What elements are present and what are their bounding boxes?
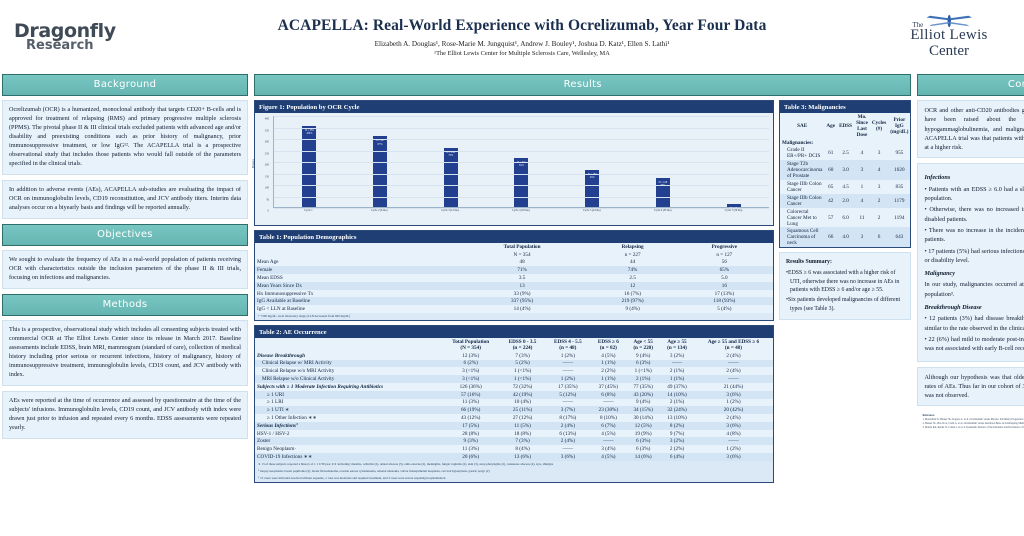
table-cell: 37 (45%)	[590, 383, 626, 391]
chart-y-tick: 250	[265, 152, 269, 155]
table-3-column-header: SAE	[780, 113, 824, 139]
table-1: Total PopulationRelapsingProgressive N =…	[255, 243, 773, 313]
section-header-conclusions: Conclusions	[917, 74, 1024, 96]
table-row: Colorectal Cancer Met to Lung576.0112119…	[780, 208, 910, 228]
references-block: References 1. Montalban X, Hauser SL, Ka…	[917, 411, 1024, 433]
chart-y-tick: 150	[265, 175, 269, 178]
table-cell: 65%	[676, 266, 773, 274]
table-cell: 21 (44%)	[694, 383, 773, 391]
figure-1-chart: Patients 050100150200250300350400 N = 35…	[255, 113, 773, 225]
table-row-label: Benign Neoplasm·	[255, 445, 441, 453]
table-cell: 1 (2%)	[694, 399, 773, 407]
table-cell: ——	[694, 437, 773, 445]
table-row: ≥ 1 URI57 (16%)42 (19%)5 (12%)6 (8%)43 (…	[255, 391, 773, 399]
table-cell: 13 (10%)	[660, 414, 694, 422]
table-cell: 7 (3%)	[500, 352, 545, 360]
table-1-column-header: Relapsing	[590, 243, 676, 251]
table-cell: 3 (7%)	[545, 406, 590, 414]
table-cell: 1 (1%)	[590, 375, 626, 383]
chart-y-tick: 50	[266, 198, 269, 201]
table-cell: 9 (4%)	[590, 305, 676, 313]
table-row-label: Clinical Relapse w/ MRI Activity	[255, 360, 441, 368]
table-row-label: Clinical Relapse w/o MRI Activity	[255, 367, 441, 375]
table-cell: 3	[870, 180, 888, 194]
table-cell: 5 (12%)	[545, 391, 590, 399]
figure-1-title: Figure 1: Population by OCR Cycle	[255, 101, 773, 113]
table-cell: 30 (14%)	[626, 414, 660, 422]
table-cell: 643	[888, 227, 910, 247]
table-cell: 4	[870, 160, 888, 180]
table-cell: 23 (30%)	[590, 406, 626, 414]
table-cell: 14 (10%)	[660, 391, 694, 399]
table-row: Stage IIIb Colon Cancer654.513835	[780, 180, 910, 194]
table-row: Zoster9 (3%)7 (3%)2 (4%)——6 (3%)3 (2%)——	[255, 437, 773, 445]
table-cell: Mean Years Since Dx	[255, 282, 455, 290]
table-row: Squamous Cell Carcinoma of neck664.03664…	[780, 227, 910, 247]
elliot-lewis-center-logo: The Elliot Lewis Center	[874, 14, 1024, 60]
table-cell: 6 (7%)	[590, 422, 626, 430]
reference-3: 3. Marrie RA, Reider N, Cohen J, et al. …	[922, 426, 1024, 430]
table-cell: 66	[824, 227, 837, 247]
table-row: Hx Immunosuppressive Tx33 (9%)16 (7%)17 …	[255, 290, 773, 298]
table-row-label: ≥ 1 LRI	[255, 399, 441, 407]
table-cell: 6 (8%)	[590, 391, 626, 399]
table-cell: 126 (36%)	[441, 383, 499, 391]
dragonfly-icon	[923, 14, 976, 28]
table-cell: 835	[888, 180, 910, 194]
table-3-column-header: Prior IgG(mg/dL)	[888, 113, 910, 139]
section-header-results: Results	[254, 74, 911, 96]
chart-x-tick: Cycle 5 (24 mo)	[561, 209, 623, 212]
chart-gridline	[274, 208, 769, 209]
methods-panel: This is a prospective, observational stu…	[2, 320, 248, 386]
table-cell: 2 (2%)	[590, 367, 626, 375]
table-cell: 57	[824, 208, 837, 228]
chart-x-tick: Cycle 3 (12 mo)	[419, 209, 481, 212]
table-cell: 66 (19%)	[441, 406, 499, 414]
conclusions-panel-intro: OCR and other anti-CD20 antibodies gener…	[917, 100, 1024, 158]
chart-gridline	[274, 128, 769, 129]
table-cell: 11 (3%)	[441, 399, 499, 407]
objectives-paragraph-1: We sought to evaluate the frequency of A…	[9, 256, 241, 283]
table-2-footnote-1: ∗ 13 of these subjects reported a histor…	[255, 461, 773, 468]
table-3-group-label: Malignancies:	[780, 139, 910, 147]
table-3-header: SAEAgeEDSSMo. SinceLast DoseCycles(#)Pri…	[780, 113, 910, 139]
table-2-title: Table 2: AE Occurrence	[255, 326, 773, 338]
table-cell: 3.5	[455, 274, 590, 282]
table-cell: 2.5	[837, 147, 854, 161]
table-cell: 3 (6%)	[694, 422, 773, 430]
table-3-column-header: Mo. SinceLast Dose	[854, 113, 870, 139]
table-cell: 4 (5%)	[590, 453, 626, 461]
table-cell: 20 (42%)	[694, 406, 773, 414]
table-cell: 72 (32%)	[500, 383, 545, 391]
table-cell: Squamous Cell Carcinoma of neck	[780, 227, 824, 247]
poster-header: Dragonfly Research ACAPELLA: Real-World …	[0, 0, 1024, 74]
chart-bar-label: N = 25873%	[444, 151, 458, 157]
chart-gridline	[274, 174, 769, 175]
conclusions-breakthrough-bullet-2: • 22 (6%) had mild to moderate post-infu…	[924, 335, 1024, 354]
table-row: COVID-19 Infections ∗∗20 (6%)13 (6%)3 (6…	[255, 453, 773, 461]
table-cell: 14 (4%)	[455, 305, 590, 313]
table-2-column-header: Age < 55(n = 220)	[626, 338, 660, 352]
table-cell: 3 (6%)	[694, 391, 773, 399]
table-cell: 61	[824, 147, 837, 161]
table-cell: 18 (8%)	[500, 430, 545, 438]
table-cell: 3	[870, 147, 888, 161]
table-cell: 1	[854, 180, 870, 194]
conclusions-panel-final: Although our hypothesis was that older a…	[917, 367, 1024, 407]
table-cell: 3 (6%)	[694, 453, 773, 461]
table-cell: 1 (2%)	[545, 375, 590, 383]
table-3-column-header: Age	[824, 113, 837, 139]
table-cell: 219 (97%)	[590, 297, 676, 305]
section-header-methods: Methods	[2, 294, 248, 316]
table-cell: 44	[590, 259, 676, 267]
results-right: Table 3: Malignancies SAEAgeEDSSMo. Sinc…	[779, 100, 911, 320]
table-cell: 8 (4%)	[500, 445, 545, 453]
chart-y-axis-label: Patients	[252, 159, 255, 168]
table-cell: 43 (20%)	[626, 391, 660, 399]
conclusions-intro: OCR and other anti-CD20 antibodies gener…	[924, 106, 1024, 152]
conclusions-panel-body: Infections • Patients with an EDSS ≥ 6.0…	[917, 163, 1024, 361]
table-row-label: Subjects with ≥ 1 Moderate Infection Req…	[255, 383, 441, 391]
chart-y-tick: 350	[265, 129, 269, 132]
table-cell: 32 (24%)	[660, 406, 694, 414]
results-left: Figure 1: Population by OCR Cycle Patien…	[254, 100, 774, 487]
conclusions-subheading-malignancy: Malignancy	[924, 269, 1024, 278]
table-2-column-header: EDSS 0 - 3.5(n = 224)	[500, 338, 545, 352]
table-row: ≥ 1 LRI11 (3%)10 (4%)————9 (4%)2 (1%)1 (…	[255, 399, 773, 407]
title-block: ACAPELLA: Real-World Experience with Ocr…	[170, 17, 874, 57]
table-cell: Stage IIIb Colon Cancer	[780, 180, 824, 194]
table-cell: 10 (4%)	[500, 399, 545, 407]
table-cell: 6	[870, 227, 888, 247]
table-3-column-header: EDSS	[837, 113, 854, 139]
table-cell: 118 (93%)	[676, 297, 773, 305]
table-row-label: HSV-1 / HSV-2	[255, 430, 441, 438]
chart-gridline	[274, 151, 769, 152]
chart-bar: N = 16045%	[585, 170, 599, 207]
table-row: IgG < LLN at Baseline14 (4%)9 (4%)5 (4%)	[255, 305, 773, 313]
table-row: Clinical Relapse w/ MRI Activity6 (2%)5 …	[255, 360, 773, 368]
table-row: Mean Years Since Dx131216	[255, 282, 773, 290]
table-cell: 3.0	[837, 160, 854, 180]
conclusions-infections-bullet-2: • Otherwise, there was no increased inci…	[924, 205, 1024, 224]
table-cell: 1 (<1%)	[500, 375, 545, 383]
background-paragraph-1: Ocrelizumab (OCR) is a humanized, monocl…	[9, 106, 241, 169]
table-cell: Mean EDSS	[255, 274, 455, 282]
conclusions-subheading-infections: Infections	[924, 173, 1024, 182]
table-1-column-header	[255, 243, 455, 251]
table-3-group-label-row: Malignancies:	[780, 139, 910, 147]
table-cell: 28 (8%)	[441, 430, 499, 438]
table-1-title: Table 1: Population Demographics	[255, 231, 773, 243]
table-row: Mean EDSS3.52.55.0	[255, 274, 773, 282]
table-cell: 60	[824, 160, 837, 180]
table-cell: 57 (16%)	[441, 391, 499, 399]
chart-bar-label: N = 30787%	[373, 139, 387, 145]
table-2-footnote-2: ° biopsy neoplasms: breast papilloma (2)…	[255, 468, 773, 475]
table-cell: 4 (5%)	[590, 430, 626, 438]
table-row: Subjects with ≥ 1 Moderate Infection Req…	[255, 383, 773, 391]
table-cell: 9 (7%)	[660, 430, 694, 438]
table-cell: ——	[660, 360, 694, 368]
results-summary-bullet: Six patients developed malignancies of d…	[786, 296, 904, 313]
table-cell: 17 (13%)	[676, 290, 773, 298]
table-cell: 2	[870, 208, 888, 228]
table-row: Female71%74%65%	[255, 266, 773, 274]
table-cell: 34 (15%)	[626, 406, 660, 414]
table-cell: 65	[824, 180, 837, 194]
table-cell: ——	[545, 399, 590, 407]
chart-bar: N = 21561%	[514, 158, 528, 207]
table-row: Stage T2b Adenocarcinoma of Prostate603.…	[780, 160, 910, 180]
results-summary-list: EDSS ≥ 6 was associated with a higher ri…	[786, 269, 904, 313]
table-cell: 2 (4%)	[694, 414, 773, 422]
table-cell: 12	[590, 282, 676, 290]
table-row: MRI Relapse w/o Clinical Activity3 (<1%)…	[255, 375, 773, 383]
table-cell: 4 (5%)	[590, 352, 626, 360]
chart-gridline	[274, 116, 769, 117]
chart-y-tick: 200	[265, 164, 269, 167]
table-row-label: Serious Infections°	[255, 422, 441, 430]
table-cell: 9 (4%)	[626, 352, 660, 360]
left-column: Background Ocrelizumab (OCR) is a humani…	[2, 74, 248, 444]
table-cell: 2 (4%)	[545, 437, 590, 445]
table-cell: 1 (1%)	[660, 375, 694, 383]
table-cell: 6 (13%)	[545, 430, 590, 438]
table-cell: 2 (1%)	[660, 367, 694, 375]
table-cell: 1 (2%)	[694, 445, 773, 453]
chart-plot-area: N = 354100%N = 30787%N = 25873%N = 21561…	[273, 116, 769, 208]
table-row: Stage IIIb Colon Cancer422.0421179	[780, 194, 910, 208]
table-cell: 42	[824, 194, 837, 208]
table-row-label: ≥ 1 Other Infection ∗∗	[255, 414, 441, 422]
chart-gridline	[274, 197, 769, 198]
table-row: Serious Infections°17 (5%)11 (5%)2 (4%)6…	[255, 422, 773, 430]
methods-paragraph-2: AEs were reported at the time of occurre…	[9, 397, 241, 433]
conclusions-final-statement: Although our hypothesis was that older a…	[924, 373, 1024, 401]
table-row: HSV-1 / HSV-228 (8%)18 (8%)6 (13%)4 (5%)…	[255, 430, 773, 438]
table-cell: 4.0	[837, 227, 854, 247]
conclusions-malignancy-text: In our study, malignancies occurred at a…	[924, 280, 1024, 299]
table-2-footnote-3: ° 13 cases were mild and resolved withou…	[255, 475, 773, 482]
conclusions-breakthrough-bullet-1: • 12 patients (3%) had disease breakthro…	[924, 314, 1024, 333]
table-row: Benign Neoplasm·11 (3%)8 (4%)——3 (4%)6 (…	[255, 445, 773, 453]
table-cell: 4	[854, 194, 870, 208]
chart-bar-label: N = 354100%	[302, 129, 316, 135]
table-cell: 955	[888, 147, 910, 161]
table-cell: 6 (3%)	[626, 437, 660, 445]
table-cell: 3 (2%)	[660, 352, 694, 360]
table-3-body: Malignancies:Grade II ER+/PR+ DCIS612.54…	[780, 139, 910, 247]
table-cell: ——	[545, 367, 590, 375]
table-cell: 8 (2%)	[660, 422, 694, 430]
table-3-container: Table 3: Malignancies SAEAgeEDSSMo. Sinc…	[779, 100, 911, 248]
chart-y-tick: 300	[265, 141, 269, 144]
table-cell: 74%	[590, 266, 676, 274]
table-1-subheader-cell: n = 227	[590, 251, 676, 259]
table-cell: 6.0	[837, 208, 854, 228]
table-cell: 3 (<1%)	[441, 367, 499, 375]
results-summary-heading: Results Summary:	[786, 258, 904, 267]
chart-y-tick: 0	[268, 210, 269, 213]
table-cell: 2	[870, 194, 888, 208]
table-2-header: Total Population(N = 354)EDSS 0 - 3.5(n …	[255, 338, 773, 352]
table-cell: 2 (1%)	[626, 375, 660, 383]
table-1-subheader-cell	[255, 251, 455, 259]
chart-x-tick: Cycle 2 (6 mo)	[348, 209, 410, 212]
table-1-header-row: Total PopulationRelapsingProgressive	[255, 243, 773, 251]
chart-y-tick: 100	[265, 187, 269, 190]
table-1-subheader-cell: N = 354	[455, 251, 590, 259]
table-row-label: Zoster	[255, 437, 441, 445]
table-cell: 5 (2%)	[500, 360, 545, 368]
table-3-column-header: Cycles(#)	[870, 113, 888, 139]
table-cell: 20 (6%)	[441, 453, 499, 461]
results-summary-bullet: EDSS ≥ 6 was associated with a higher ri…	[786, 269, 904, 295]
table-1-body: Mean Age484456Female71%74%65%Mean EDSS3.…	[255, 259, 773, 313]
table-cell: 12 (3%)	[441, 352, 499, 360]
table-cell: 27 (12%)	[500, 414, 545, 422]
table-cell: 8 (17%)	[545, 414, 590, 422]
table-cell: 71%	[455, 266, 590, 274]
table-2-header-row: Total Population(N = 354)EDSS 0 - 3.5(n …	[255, 338, 773, 352]
table-cell: 1020	[888, 160, 910, 180]
table-cell: Mean Age	[255, 259, 455, 267]
chart-x-tick: Cycle 4 (18 mo)	[490, 209, 552, 212]
table-3-title: Table 3: Malignancies	[780, 101, 910, 113]
logo-the-text: The	[912, 22, 923, 29]
table-cell: 3	[854, 227, 870, 247]
table-1-column-header: Progressive	[676, 243, 773, 251]
affiliation: ¹The Elliot Lewis Center for Multiple Sc…	[176, 50, 868, 57]
table-cell: Colorectal Cancer Met to Lung	[780, 208, 824, 228]
table-cell: 1194	[888, 208, 910, 228]
table-cell: 2 (4%)	[694, 352, 773, 360]
table-cell: 17 (35%)	[545, 383, 590, 391]
table-row-label: COVID-19 Infections ∗∗	[255, 453, 441, 461]
table-cell: 2 (4%)	[694, 367, 773, 375]
chart-bar: N = 354100%	[302, 126, 316, 207]
chart-bar: N = 25873%	[444, 148, 458, 207]
middle-column: Results Figure 1: Population by OCR Cycl…	[254, 74, 911, 487]
table-1-subheader-row: N = 354n = 227n = 127	[255, 251, 773, 259]
figure-1-container: Figure 1: Population by OCR Cycle Patien…	[254, 100, 774, 226]
table-row: IgG Available at Baseline337 (95%)219 (9…	[255, 297, 773, 305]
chart-bar: N = 12836%	[656, 178, 670, 207]
author-list: Elizabeth A. Douglas¹, Rose-Marie M. Jun…	[176, 40, 868, 48]
table-cell: 2 (4%)	[545, 422, 590, 430]
results-body: Figure 1: Population by OCR Cycle Patien…	[254, 100, 911, 487]
logo-center-text: Center	[910, 44, 987, 60]
table-cell: 4	[854, 147, 870, 161]
table-cell: 3 (<1%)	[441, 375, 499, 383]
table-cell: 33 (9%)	[455, 290, 590, 298]
table-row: Disease Breakthrough12 (3%)7 (3%)1 (2%)4…	[255, 352, 773, 360]
table-2-column-header: EDSS ≥ 6(n = 82)	[590, 338, 626, 352]
poster-columns: Background Ocrelizumab (OCR) is a humani…	[0, 74, 1024, 487]
table-2-column-header: Age ≥ 55(n = 134)	[660, 338, 694, 352]
table-cell: 6 (2%)	[441, 360, 499, 368]
conclusions-infections-bullet-1: • Patients with an EDSS ≥ 6.0 had a slig…	[924, 185, 1024, 204]
table-cell: Stage IIIb Colon Cancer	[780, 194, 824, 208]
table-cell: IgG Available at Baseline	[255, 297, 455, 305]
right-column: Conclusions OCR and other anti-CD20 anti…	[917, 74, 1024, 433]
table-cell: 49 (37%)	[660, 383, 694, 391]
table-cell: 2.0	[837, 194, 854, 208]
results-summary: Results Summary: EDSS ≥ 6 was associated…	[779, 252, 911, 320]
table-cell: ——	[694, 375, 773, 383]
chart-y-tick: 400	[265, 118, 269, 121]
table-cell: 8 (10%)	[590, 414, 626, 422]
table-cell: 4.5	[837, 180, 854, 194]
table-cell: ——	[545, 360, 590, 368]
table-cell: 6 (4%)	[660, 453, 694, 461]
chart-gridline	[274, 185, 769, 186]
table-cell: 1 (<1%)	[500, 367, 545, 375]
methods-paragraph-1: This is a prospective, observational stu…	[9, 326, 241, 380]
table-1-subheader-cell: n = 127	[676, 251, 773, 259]
table-cell: 25 (11%)	[500, 406, 545, 414]
table-cell: 2.5	[590, 274, 676, 282]
table-row: ≥ 1 UTI ∗66 (19%)25 (11%)3 (7%)23 (30%)3…	[255, 406, 773, 414]
table-cell: 3 (2%)	[660, 437, 694, 445]
table-cell: 48	[455, 259, 590, 267]
table-cell: 9 (3%)	[441, 437, 499, 445]
table-row: Clinical Relapse w/o MRI Activity3 (<1%)…	[255, 367, 773, 375]
table-cell: 3	[854, 160, 870, 180]
table-cell: Hx Immunosuppressive Tx	[255, 290, 455, 298]
conclusions-subheading-breakthrough: Breakthrough Disease	[924, 303, 1024, 312]
background-paragraph-2: In addition to adverse events (AEs), ACA…	[9, 186, 241, 213]
table-cell: 4 (8%)	[694, 430, 773, 438]
table-cell: 7 (3%)	[500, 437, 545, 445]
table-1-container: Table 1: Population Demographics Total P…	[254, 230, 774, 321]
table-2-column-header: EDSS 4 - 5.5(n = 48)	[545, 338, 590, 352]
chart-gridline	[274, 139, 769, 140]
poster-root: Dragonfly Research ACAPELLA: Real-World …	[0, 0, 1024, 536]
table-cell: 11 (5%)	[500, 422, 545, 430]
table-2-body: Disease Breakthrough12 (3%)7 (3%)1 (2%)4…	[255, 352, 773, 461]
table-2-column-header: Total Population(N = 354)	[441, 338, 499, 352]
table-1-header: Total PopulationRelapsingProgressive N =…	[255, 243, 773, 259]
table-row: Mean Age484456	[255, 259, 773, 267]
table-cell: 56	[676, 259, 773, 267]
background-panel: Ocrelizumab (OCR) is a humanized, monocl…	[2, 100, 248, 175]
table-3: SAEAgeEDSSMo. SinceLast DoseCycles(#)Pri…	[780, 113, 910, 247]
table-cell: 16 (7%)	[590, 290, 676, 298]
table-1-column-header: Total Population	[455, 243, 590, 251]
table-cell: 77 (35%)	[626, 383, 660, 391]
table-2-container: Table 2: AE Occurrence Total Population(…	[254, 325, 774, 483]
chart-y-axis: Patients 050100150200250300350400	[255, 116, 271, 208]
logo-elliot-lewis-text: Elliot Lewis	[910, 28, 987, 44]
table-cell: 43 (12%)	[441, 414, 499, 422]
page-title: ACAPELLA: Real-World Experience with Ocr…	[176, 17, 868, 35]
chart-x-tick-labels: Cycle 1Cycle 2 (6 mo)Cycle 3 (12 mo)Cycl…	[273, 209, 769, 212]
section-header-objectives: Objectives	[2, 224, 248, 246]
table-cell: 6 (3%)	[626, 445, 660, 453]
table-cell: 19 (9%)	[626, 430, 660, 438]
table-cell: Female	[255, 266, 455, 274]
table-cell: 9 (4%)	[626, 399, 660, 407]
table-cell: 14 (6%)	[626, 453, 660, 461]
table-cell: 1 (1%)	[590, 360, 626, 368]
table-row-label: ≥ 1 URI	[255, 391, 441, 399]
table-2-column-header	[255, 338, 441, 352]
